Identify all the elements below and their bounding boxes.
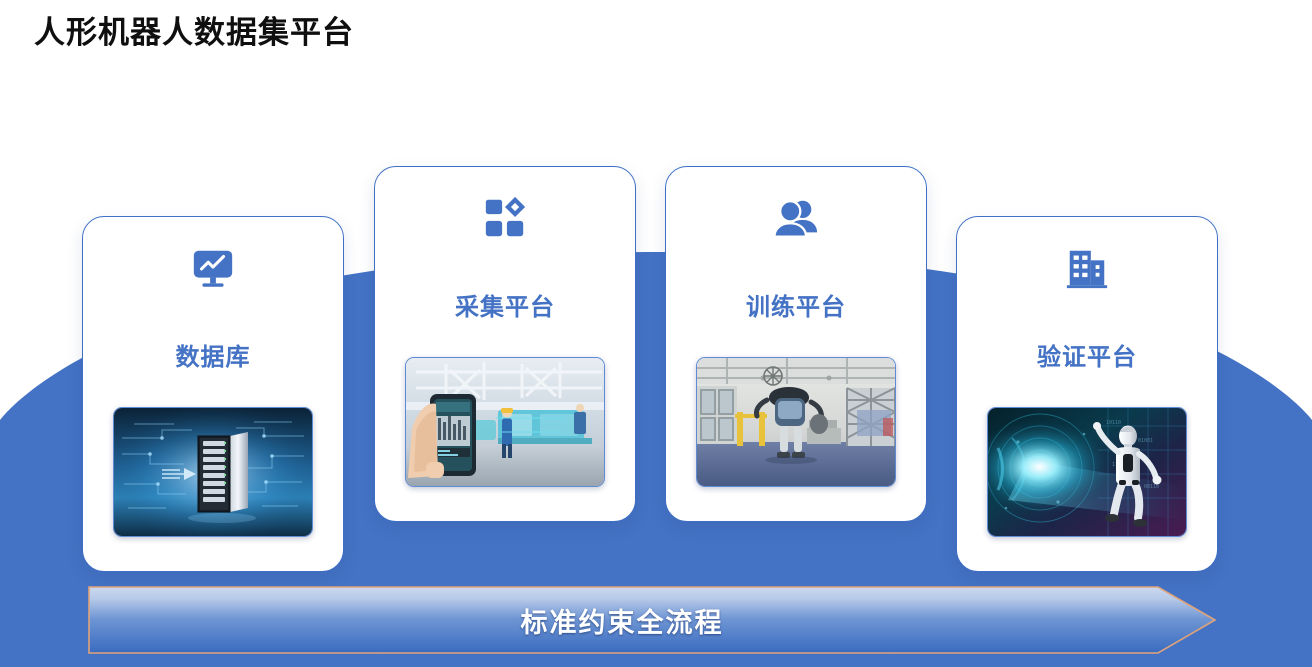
- svg-text:00110: 00110: [1144, 484, 1159, 490]
- page-title: 人形机器人数据集平台: [34, 14, 354, 51]
- photo-factory-tablet-ar: [405, 357, 605, 487]
- process-banner[interactable]: 标准约束全流程: [88, 586, 1216, 654]
- users-group-icon: [773, 195, 819, 241]
- svg-text:10110: 10110: [1106, 420, 1121, 426]
- photo-robot-hologram: 1011001001 1101000110: [987, 407, 1187, 537]
- card-title-training-platform: 训练平台: [746, 287, 846, 322]
- process-banner-label: 标准约束全流程: [88, 586, 1156, 654]
- grid-squares-diamond-icon: [482, 195, 528, 241]
- building-office-icon: [1064, 245, 1110, 291]
- card-title-database: 数据库: [176, 337, 251, 372]
- monitor-chart-icon: [190, 245, 236, 291]
- photo-humanoid-robot-warehouse: [696, 357, 896, 487]
- svg-text:01001: 01001: [1138, 438, 1153, 444]
- card-training-platform[interactable]: 训练平台: [665, 166, 927, 522]
- slide-canvas: 人形机器人数据集平台 数据库: [0, 0, 1312, 667]
- card-verification-platform[interactable]: 验证平台: [956, 216, 1218, 572]
- card-title-verification-platform: 验证平台: [1037, 337, 1137, 372]
- photo-datacenter-server-rack: [113, 407, 313, 537]
- card-title-collection-platform: 采集平台: [455, 287, 555, 322]
- card-database[interactable]: 数据库: [82, 216, 344, 572]
- card-collection-platform[interactable]: 采集平台: [374, 166, 636, 522]
